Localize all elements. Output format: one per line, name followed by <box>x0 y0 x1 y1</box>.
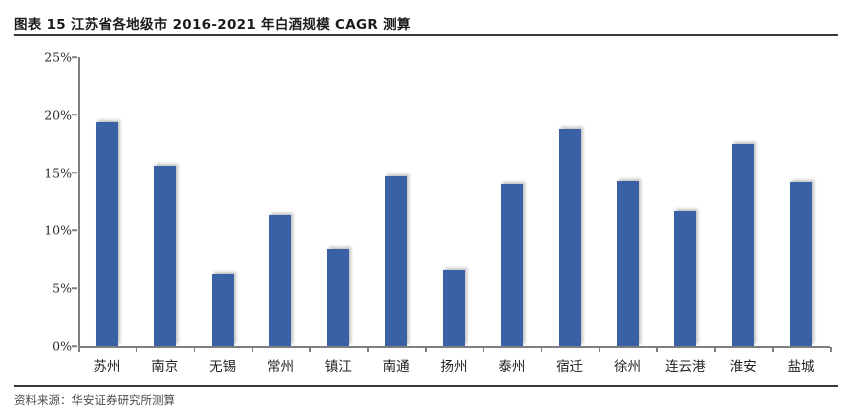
bar <box>732 144 754 346</box>
x-tick-mark <box>425 347 427 352</box>
bar <box>617 181 639 346</box>
x-tick-mark <box>136 347 138 352</box>
x-tick-mark <box>656 347 658 352</box>
x-tick-label: 宿迁 <box>556 355 583 375</box>
y-tick-text: 5% <box>52 281 72 296</box>
x-tick-label: 徐州 <box>614 355 641 375</box>
page-title: 图表 15 江苏省各地级市 2016-2021 年白酒规模 CAGR 测算 <box>14 13 411 33</box>
bar <box>327 249 349 346</box>
x-tick-label: 盐城 <box>788 355 815 375</box>
x-tick-mark <box>367 347 369 352</box>
x-tick-label: 无锡 <box>209 355 236 375</box>
x-tick-label: 淮安 <box>730 355 757 375</box>
bar <box>674 211 696 346</box>
x-tick-label: 扬州 <box>441 355 468 375</box>
x-tick-label: 常州 <box>267 355 294 375</box>
bar <box>385 176 407 346</box>
x-tick-mark <box>309 347 311 352</box>
bar-series <box>78 57 830 346</box>
bar <box>212 274 234 346</box>
bar <box>269 215 291 346</box>
y-tick-mark <box>72 172 77 174</box>
x-tick-mark <box>541 347 543 352</box>
y-tick-text: 25% <box>44 50 72 65</box>
x-tick-label: 镇江 <box>325 355 352 375</box>
y-tick-mark <box>72 345 77 347</box>
y-tick-text: 20% <box>44 107 72 122</box>
y-tick-text: 0% <box>52 339 72 354</box>
x-tick-label: 南通 <box>383 355 410 375</box>
x-tick-mark <box>252 347 254 352</box>
footer-divider <box>14 385 838 387</box>
x-tick-mark <box>78 347 80 352</box>
bar <box>790 182 812 346</box>
bar <box>501 184 523 346</box>
bar <box>154 166 176 346</box>
x-tick-mark <box>714 347 716 352</box>
y-tick-text: 15% <box>44 165 72 180</box>
y-tick-mark <box>72 56 77 58</box>
x-tick-label: 泰州 <box>498 355 525 375</box>
x-tick-label: 苏州 <box>93 355 120 375</box>
title-divider <box>14 34 838 36</box>
y-tick-mark <box>72 114 77 116</box>
y-tick-text: 10% <box>44 223 72 238</box>
y-tick-mark <box>72 230 77 232</box>
x-tick-label: 连云港 <box>665 355 706 375</box>
bar <box>559 129 581 346</box>
bar <box>96 122 118 346</box>
bar <box>443 270 465 346</box>
x-tick-mark <box>830 347 832 352</box>
x-axis-line <box>78 346 830 348</box>
figure-container: 图表 15 江苏省各地级市 2016-2021 年白酒规模 CAGR 测算 0%… <box>0 0 852 413</box>
x-tick-mark <box>483 347 485 352</box>
x-tick-mark <box>194 347 196 352</box>
x-tick-mark <box>772 347 774 352</box>
y-tick-mark <box>72 287 77 289</box>
x-tick-mark <box>599 347 601 352</box>
source-note: 资料来源：华安证券研究所测算 <box>14 392 175 408</box>
x-tick-label: 南京 <box>151 355 178 375</box>
